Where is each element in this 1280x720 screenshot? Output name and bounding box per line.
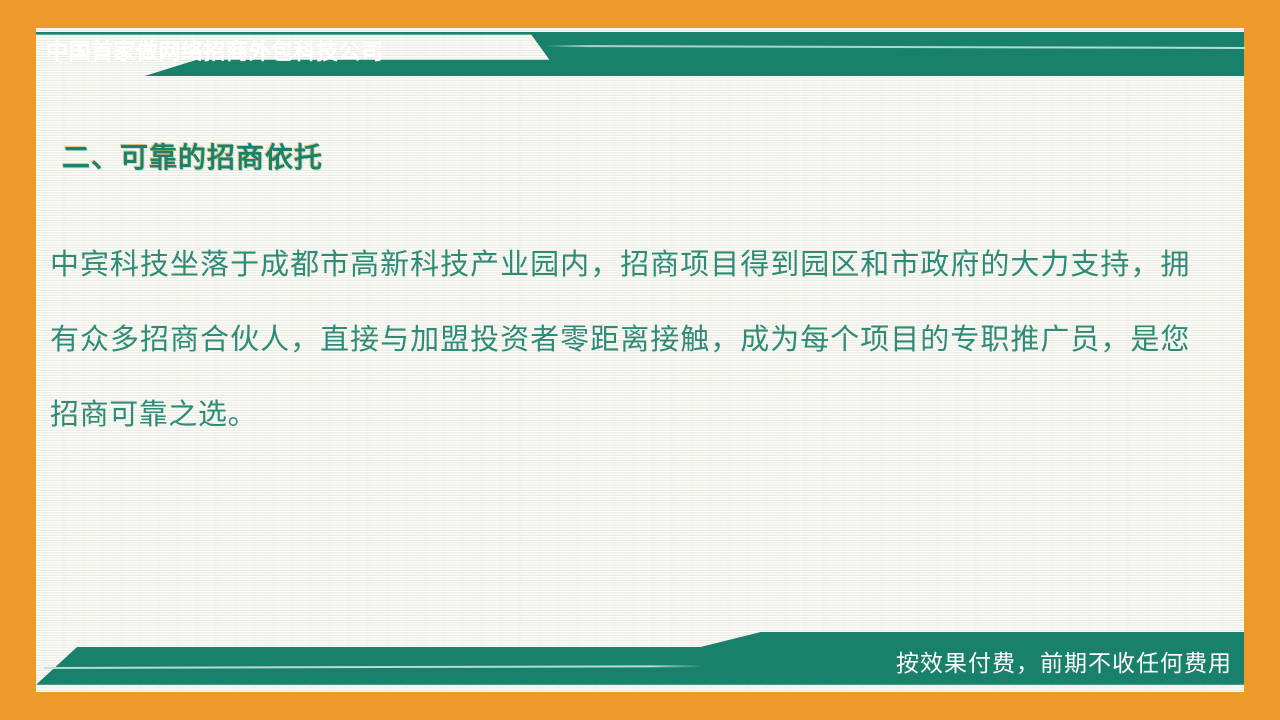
footer-slogan: 按效果付费，前期不收任何费用 [896, 646, 1232, 680]
section-heading: 二、可靠的招商依托 [62, 136, 323, 176]
body-paragraph: 中宾科技坐落于成都市高新科技产业园内，招商项目得到园区和市政府的大力支持，拥有众… [50, 228, 1190, 453]
slide-canvas: 中国首家做网络招商外包科技公司 二、可靠的招商依托 中宾科技坐落于成都市高新科技… [0, 0, 1280, 720]
header-title: 中国首家做网络招商外包科技公司 [46, 34, 384, 70]
